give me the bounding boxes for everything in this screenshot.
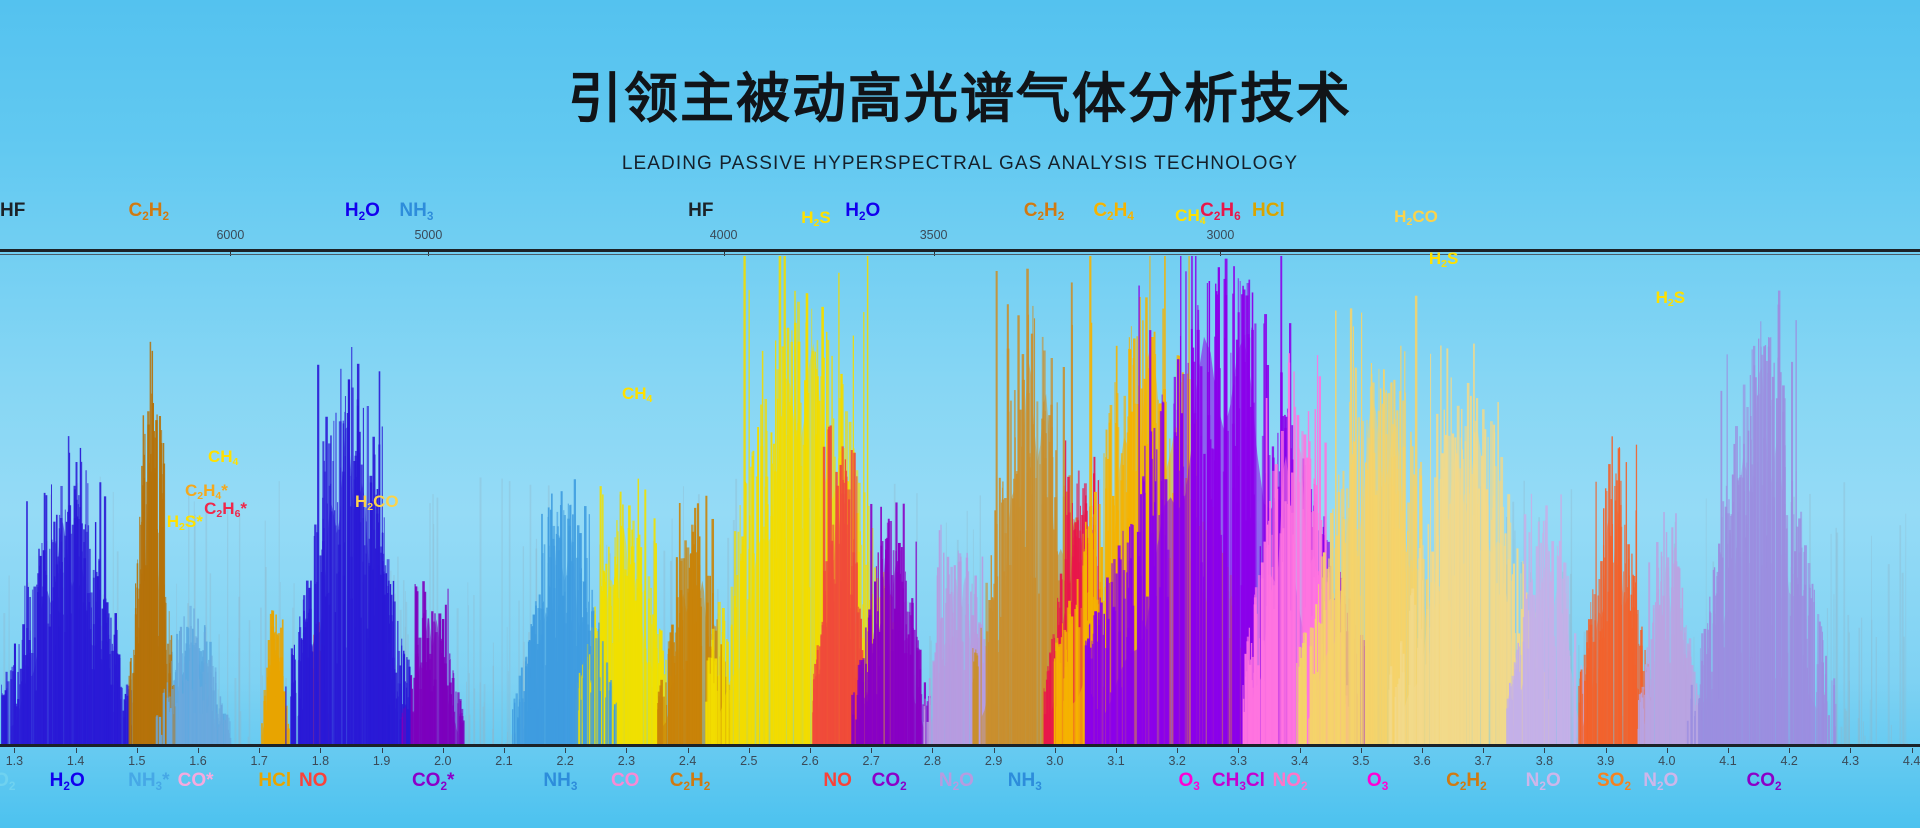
bottom-tick-mark — [932, 748, 933, 753]
bottom-tick-label: 3.6 — [1413, 754, 1430, 768]
plot-annotation-ch4: CH4 — [1175, 206, 1205, 226]
bottom-tick-label: 2.0 — [434, 754, 451, 768]
bottom-tick-label: 3.3 — [1230, 754, 1247, 768]
bottom-tick-label: 4.1 — [1719, 754, 1736, 768]
bottom-tick-label: 1.4 — [67, 754, 84, 768]
bottom-tick-mark — [1728, 748, 1729, 753]
bottom-tick-mark — [198, 748, 199, 753]
bottom-tick-mark — [1177, 748, 1178, 753]
bottom-gas-label-co2: CO2 — [1746, 770, 1781, 792]
bottom-gas-label-no: NO — [299, 770, 328, 792]
bottom-tick-label: 1.9 — [373, 754, 390, 768]
bottom-gas-label-nh3star: NH3* — [128, 770, 169, 792]
bottom-tick-mark — [994, 748, 995, 753]
bottom-tick-label: 1.5 — [128, 754, 145, 768]
bottom-gas-label-no2: NO2 — [1272, 770, 1307, 792]
bottom-gas-label-n2o: N2O — [1643, 770, 1678, 792]
bottom-gas-label-hcl: HCl — [258, 770, 291, 792]
bottom-tick-label: 2.2 — [556, 754, 573, 768]
bottom-tick-mark — [1422, 748, 1423, 753]
plot-annotation-ch4: CH4 — [208, 447, 238, 467]
bottom-tick-label: 3.8 — [1536, 754, 1553, 768]
bottom-tick-mark — [1544, 748, 1545, 753]
bottom-tick-mark — [137, 748, 138, 753]
bottom-tick-mark — [1116, 748, 1117, 753]
bottom-tick-mark — [688, 748, 689, 753]
bottom-tick-label: 2.9 — [985, 754, 1002, 768]
bottom-tick-label: 3.9 — [1597, 754, 1614, 768]
bottom-tick-mark — [14, 748, 15, 753]
bottom-tick-mark — [1789, 748, 1790, 753]
bottom-tick-mark — [626, 748, 627, 753]
plot-annotation-h2s: H2S — [1656, 288, 1685, 308]
bottom-tick-mark — [749, 748, 750, 753]
plot-annotation-c2h6star: C2H6* — [204, 499, 247, 519]
bottom-gas-label-co2star: CO2* — [412, 770, 454, 792]
bottom-tick-mark — [1483, 748, 1484, 753]
bottom-gas-label-nh3: NH3 — [1008, 770, 1042, 792]
bottom-tick-label: 2.1 — [495, 754, 512, 768]
bottom-tick-label: 1.8 — [312, 754, 329, 768]
plot-annotation-c2h4star: C2H4* — [185, 481, 228, 501]
plot-annotation-h2sstar: H2S* — [167, 512, 203, 532]
bottom-tick-label: 2.6 — [801, 754, 818, 768]
bottom-gas-label-so2: SO2 — [1597, 770, 1631, 792]
bottom-gas-label-no: NO — [823, 770, 852, 792]
plot-annotation-h2co: H2CO — [1394, 207, 1438, 227]
bottom-gas-label-h2o: H2O — [50, 770, 85, 792]
bottom-tick-label: 3.0 — [1046, 754, 1063, 768]
bottom-tick-mark — [76, 748, 77, 753]
bottom-tick-label: 3.5 — [1352, 754, 1369, 768]
bottom-tick-mark — [1361, 748, 1362, 753]
plot-annotation-layer: H2SCH4H2COH2SH2SCH4C2H4*C2H6*H2S*H2COCH4 — [0, 0, 1920, 828]
bottom-tick-mark — [565, 748, 566, 753]
bottom-tick-mark — [443, 748, 444, 753]
bottom-gas-label-o3: O3 — [1179, 770, 1200, 792]
bottom-tick-label: 2.5 — [740, 754, 757, 768]
bottom-tick-mark — [871, 748, 872, 753]
bottom-tick-mark — [1667, 748, 1668, 753]
bottom-tick-label: 3.7 — [1474, 754, 1491, 768]
bottom-tick-mark — [504, 748, 505, 753]
bottom-gas-label-costar: CO* — [178, 770, 214, 792]
bottom-tick-label: 4.4 — [1903, 754, 1920, 768]
bottom-gas-label-o3: O3 — [1367, 770, 1388, 792]
bottom-gas-label-co: CO — [611, 770, 640, 792]
bottom-tick-mark — [320, 748, 321, 753]
bottom-tick-mark — [1055, 748, 1056, 753]
bottom-gas-label-n2o: N2O — [939, 770, 974, 792]
bottom-tick-label: 1.6 — [189, 754, 206, 768]
bottom-tick-mark — [1238, 748, 1239, 753]
bottom-tick-label: 4.0 — [1658, 754, 1675, 768]
bottom-gas-label-o2: O2 — [0, 770, 15, 792]
bottom-tick-label: 2.3 — [618, 754, 635, 768]
bottom-tick-label: 4.3 — [1842, 754, 1859, 768]
bottom-tick-label: 1.3 — [6, 754, 23, 768]
plot-annotation-ch4: CH4 — [622, 384, 652, 404]
bottom-tick-label: 4.2 — [1780, 754, 1797, 768]
bottom-gas-label-ch3cl: CH3Cl — [1212, 770, 1265, 792]
bottom-tick-mark — [259, 748, 260, 753]
bottom-gas-label-co2: CO2 — [872, 770, 907, 792]
bottom-tick-mark — [1300, 748, 1301, 753]
bottom-tick-mark — [1606, 748, 1607, 753]
bottom-axis-rule — [0, 744, 1920, 747]
bottom-gas-label-strip: O2H2ONH3*CO*HClNOCO2*NH3COC2H2NOCO2N2ONH… — [0, 770, 1920, 810]
bottom-gas-label-c2h2: C2H2 — [1446, 770, 1487, 792]
bottom-tick-mark — [1850, 748, 1851, 753]
bottom-tick-label: 2.8 — [924, 754, 941, 768]
bottom-tick-label: 3.1 — [1107, 754, 1124, 768]
bottom-tick-label: 3.2 — [1168, 754, 1185, 768]
plot-annotation-h2s: H2S — [1429, 249, 1458, 269]
bottom-tick-label: 2.4 — [679, 754, 696, 768]
bottom-tick-label: 3.4 — [1291, 754, 1308, 768]
hyperspectral-banner: 引领主被动高光谱气体分析技术 LEADING PASSIVE HYPERSPEC… — [0, 0, 1920, 828]
bottom-tick-mark — [1912, 748, 1913, 753]
bottom-tick-mark — [810, 748, 811, 753]
bottom-gas-label-nh3: NH3 — [543, 770, 577, 792]
bottom-gas-label-c2h2: C2H2 — [670, 770, 711, 792]
plot-annotation-h2co: H2CO — [355, 492, 399, 512]
bottom-gas-label-n2o: N2O — [1526, 770, 1561, 792]
bottom-tick-label: 1.7 — [250, 754, 267, 768]
bottom-tick-label: 2.7 — [862, 754, 879, 768]
plot-annotation-h2s: H2S — [801, 208, 830, 228]
bottom-tick-mark — [382, 748, 383, 753]
